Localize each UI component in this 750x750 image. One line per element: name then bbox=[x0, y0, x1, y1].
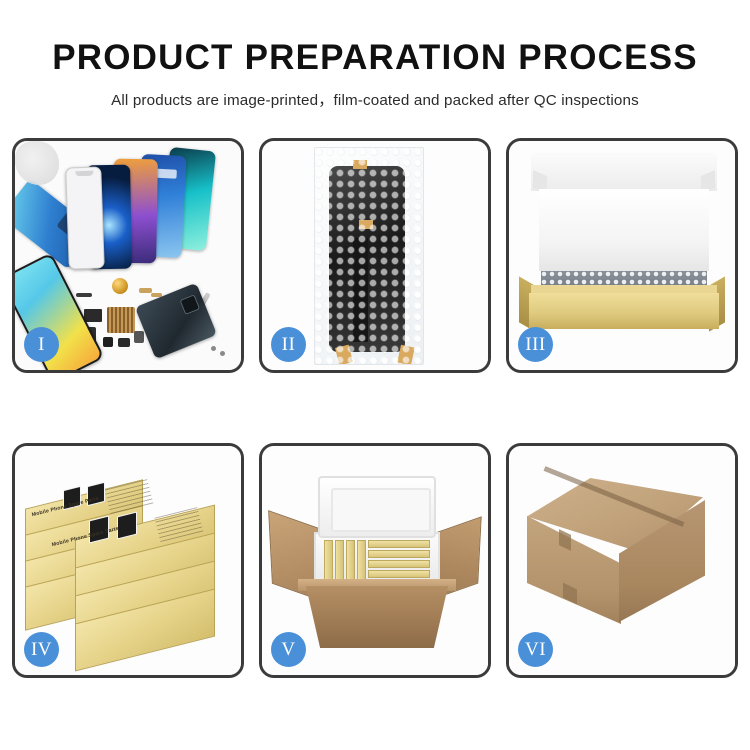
retail-box-front-4 bbox=[75, 606, 215, 654]
bubble-wrap-bag-image bbox=[314, 147, 424, 365]
tape-piece-4 bbox=[397, 345, 414, 365]
packed-box-4 bbox=[357, 540, 366, 580]
vibration-motor-part-icon bbox=[118, 338, 130, 347]
step-badge-1: I bbox=[24, 327, 59, 362]
packed-box-7 bbox=[368, 560, 430, 568]
process-step-panel-1: I bbox=[12, 138, 244, 373]
step-badge-6: VI bbox=[518, 632, 553, 667]
connector-part-icon-1 bbox=[139, 288, 152, 293]
box-lid-image bbox=[531, 153, 717, 191]
packed-box-1 bbox=[324, 540, 333, 580]
chip-board-part-icon bbox=[107, 307, 135, 333]
packed-retail-boxes-group bbox=[324, 540, 430, 580]
page-title: PRODUCT PREPARATION PROCESS bbox=[0, 40, 750, 77]
step-badge-2: II bbox=[271, 327, 306, 362]
process-step-panel-6: VI bbox=[506, 443, 738, 678]
hand-image bbox=[15, 141, 59, 185]
screw-part-icon-2 bbox=[220, 351, 225, 356]
box-spec-text-lines-back bbox=[105, 479, 154, 515]
speaker-part-icon bbox=[112, 278, 128, 294]
packed-box-5 bbox=[368, 540, 430, 548]
packed-box-2 bbox=[335, 540, 344, 580]
tape-piece-2 bbox=[359, 220, 373, 229]
foam-sheet-image bbox=[539, 189, 709, 271]
carton-front-image bbox=[298, 586, 456, 648]
process-step-panel-4: Mobile Phone Spare Parts Mobi bbox=[12, 443, 244, 678]
process-step-panel-5: V bbox=[259, 443, 491, 678]
screw-part-icon-1 bbox=[211, 346, 216, 351]
packed-box-6 bbox=[368, 550, 430, 558]
header: PRODUCT PREPARATION PROCESS All products… bbox=[0, 40, 750, 110]
process-step-grid: I II bbox=[12, 138, 738, 678]
phone-glass-protector-image bbox=[65, 166, 105, 269]
step-badge-5: V bbox=[271, 632, 306, 667]
step-badge-3: III bbox=[518, 327, 553, 362]
packed-box-3 bbox=[346, 540, 355, 580]
camera-module-part-icon bbox=[103, 337, 113, 347]
box-front-wall-image bbox=[529, 293, 719, 329]
process-step-panel-3: III bbox=[506, 138, 738, 373]
packed-box-8 bbox=[368, 570, 430, 578]
step-badge-4: IV bbox=[24, 632, 59, 667]
flex-cable-part-icon-1 bbox=[84, 309, 102, 322]
lcd-flex-cable-image bbox=[353, 238, 368, 342]
bracket-part-icon bbox=[134, 331, 144, 343]
product-preparation-infographic: PRODUCT PREPARATION PROCESS All products… bbox=[0, 0, 750, 750]
foam-box-lid-image bbox=[318, 476, 436, 538]
page-subtitle: All products are image-printed，film-coat… bbox=[0, 88, 750, 110]
process-step-panel-2: II bbox=[259, 138, 491, 373]
tape-piece-1 bbox=[353, 160, 367, 169]
battery-strip-part-icon bbox=[76, 293, 92, 297]
